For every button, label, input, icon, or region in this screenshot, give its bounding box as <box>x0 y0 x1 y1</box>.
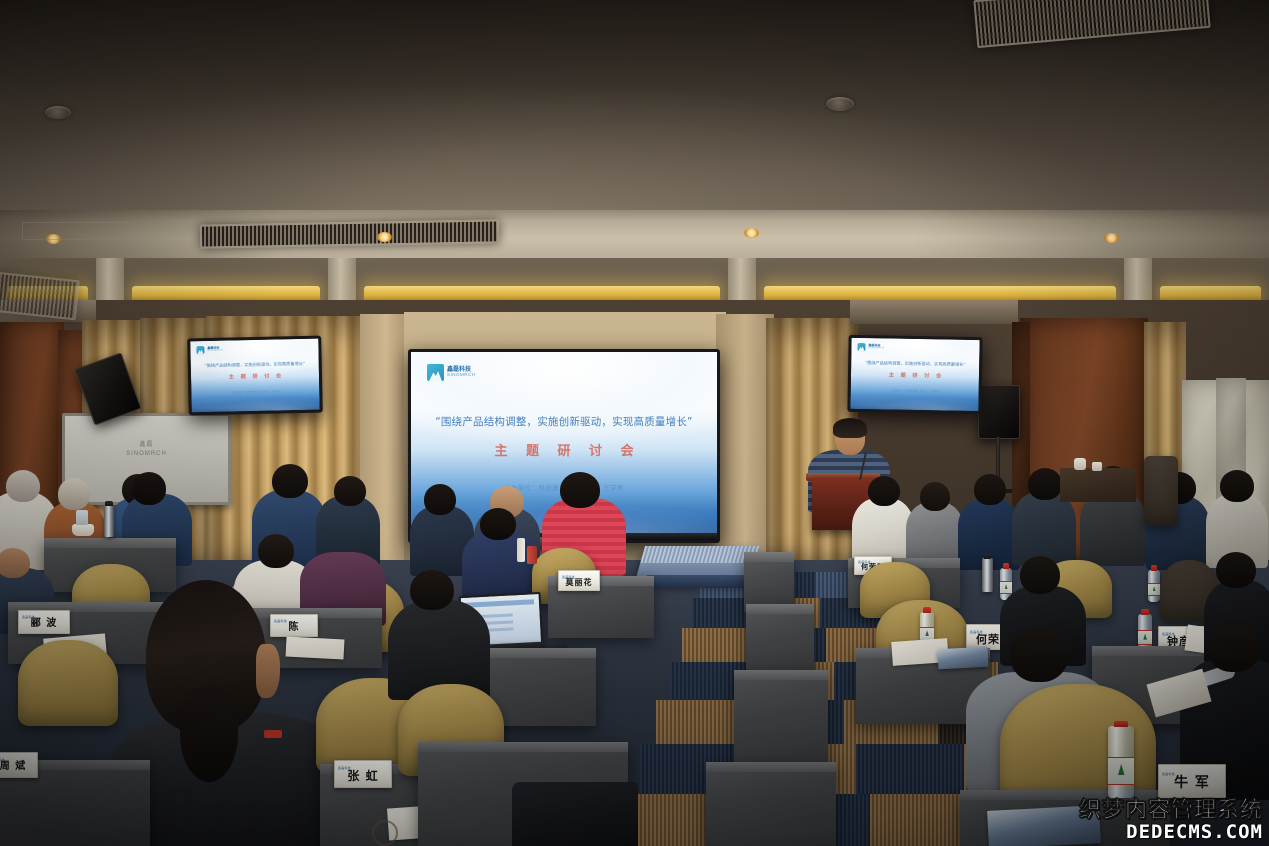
foreground-attendee-face <box>256 644 280 698</box>
right-wall-monitor[interactable]: 鑫磊科技 SINOMRCH “围绕产品结构调整，实施创新驱动，实现高质量增长” … <box>847 335 982 414</box>
eyeglasses-icon <box>1056 642 1072 652</box>
cup-ring <box>372 820 398 846</box>
mountain-logo-icon <box>196 346 204 354</box>
water-bottle <box>1148 570 1160 602</box>
thermos-flask <box>982 558 993 592</box>
placard-logo: 鑫磊科技 <box>1162 773 1175 776</box>
ceiling-speaker-icon <box>826 97 854 111</box>
slide-content: 鑫磊科技 SINOMRCH “围绕产品结构调整，实施创新驱动，实现高质量增长” … <box>850 338 979 411</box>
attendee-head <box>1220 470 1254 502</box>
conference-room-photo: 鑫磊 SINOMRCH 鑫磊科技 SINOMRCH “围绕产品结构调整，实施创新… <box>0 0 1269 846</box>
left-wall-monitor[interactable]: 鑫磊科技 SINOMRCH “围绕产品结构调整，实施创新驱动，实现高质量增长” … <box>187 336 323 416</box>
teacup <box>72 524 94 536</box>
placard-name: 郦 波 <box>31 619 57 629</box>
wall-air-vent-icon <box>0 272 80 321</box>
placard-name: 周 斌 <box>0 762 26 772</box>
brochure <box>987 805 1101 846</box>
mountain-logo-icon <box>857 343 865 351</box>
placard-name: 莫丽花 <box>566 579 593 587</box>
logo-english-text: SINOMRCH <box>207 350 223 353</box>
name-placard: 鑫磊科技 周 斌 <box>0 752 38 778</box>
wall-cornice <box>850 300 1018 324</box>
conference-table <box>706 762 836 846</box>
slide-headline: “围绕产品结构调整，实施创新驱动，实现高质量增长” <box>191 361 319 370</box>
logo-english-text: SINOMRCH <box>447 373 476 378</box>
slide-title: 主 题 研 讨 会 <box>851 371 979 380</box>
ceiling-speaker-icon <box>45 106 71 119</box>
stage-skirt <box>643 575 751 588</box>
attendee-head <box>1020 556 1060 594</box>
teapot <box>1074 458 1086 470</box>
slide-footer: 主办单位：科技质量部 主讲人：王学君 <box>191 389 319 396</box>
attendee-head <box>424 484 456 515</box>
presenter-hair <box>833 418 867 438</box>
water-bottle <box>1108 726 1134 798</box>
conference-chair <box>18 640 118 726</box>
logo-english-text: SINOMRCH <box>868 348 884 351</box>
placard-logo: 鑫磊科技 <box>274 620 287 623</box>
document-paper <box>286 636 345 659</box>
name-placard: 鑫磊科技 张 虹 <box>334 760 392 788</box>
placard-name: 陈 <box>289 623 300 633</box>
attendee-head <box>6 470 40 502</box>
slide-title: 主 题 研 讨 会 <box>191 372 319 382</box>
mountain-logo-icon <box>427 364 444 381</box>
placard-name: 牛 军 <box>1174 776 1210 790</box>
water-bottle <box>76 510 88 525</box>
water-bottle <box>517 538 525 562</box>
attendee-head <box>0 548 30 578</box>
company-logo: 鑫磊科技 SINOMRCH <box>857 343 884 351</box>
company-logo: 鑫磊科技 SINOMRCH <box>427 364 476 381</box>
attendee-head <box>1216 552 1256 588</box>
backpack <box>512 782 638 846</box>
downlight-icon <box>377 232 392 242</box>
attendee-head <box>1208 624 1260 672</box>
downlight-icon <box>1104 233 1119 243</box>
lanyard-tag <box>264 730 282 738</box>
placard-name: 张 虹 <box>347 770 378 782</box>
attendee-body <box>1012 492 1076 566</box>
slide-headline: “围绕产品结构调整，实施创新驱动，实现高质量增长” <box>851 360 979 368</box>
attendee-head <box>272 464 308 498</box>
slide-content: 鑫磊科技 SINOMRCH “围绕产品结构调整，实施创新驱动，实现高质量增长” … <box>190 339 319 413</box>
thermos-flask <box>104 505 114 537</box>
whiteboard-logo: 鑫磊 SINOMRCH <box>126 441 167 459</box>
attendee-head <box>920 482 950 511</box>
slide-headline: “围绕产品结构调整，实施创新驱动，实现高质量增长” <box>411 414 717 429</box>
name-placard: 鑫磊科技 郦 波 <box>18 610 70 634</box>
ceiling-access-panel <box>22 222 134 240</box>
attendee-head <box>132 472 166 505</box>
name-placard: 鑫磊科技 莫丽花 <box>558 570 600 591</box>
attendee-head <box>974 474 1006 505</box>
company-logo: 鑫磊科技 SINOMRCH <box>196 346 223 355</box>
name-placard: 鑫磊科技 陈 <box>270 614 318 637</box>
attendee-head <box>58 478 90 510</box>
teacup <box>1092 462 1102 471</box>
side-table <box>1060 468 1136 502</box>
brochure <box>938 647 989 670</box>
slide-title: 主 题 研 讨 会 <box>411 440 717 459</box>
attendee-head <box>258 534 294 568</box>
slide-footer: 主办单位：科技质量部 主讲人：王学君 <box>851 388 979 394</box>
water-bottle <box>527 546 537 564</box>
attendee-head <box>1028 468 1062 500</box>
downlight-icon <box>744 228 759 238</box>
name-placard: 鑫磊科技 牛 军 <box>1158 764 1226 798</box>
wall-speaker-icon <box>978 385 1020 439</box>
ponytail-hair <box>180 686 238 782</box>
attendee-head <box>560 472 600 508</box>
attendee-head <box>480 508 516 540</box>
side-chair <box>1144 456 1178 526</box>
attendee-head <box>1010 626 1068 682</box>
attendee-head <box>334 476 366 506</box>
attendee-head <box>410 570 454 610</box>
attendee-head <box>868 476 900 506</box>
conference-table <box>744 552 794 612</box>
